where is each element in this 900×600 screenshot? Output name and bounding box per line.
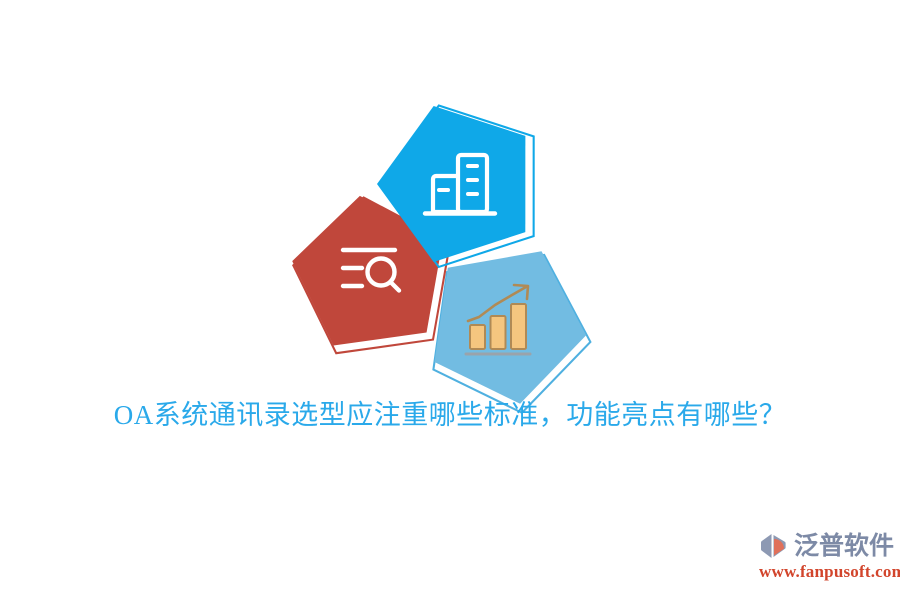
page-title: OA系统通讯录选型应注重哪些标准，功能亮点有哪些？ [0, 396, 900, 434]
brand-url: www.fanpusoft.com [759, 562, 900, 582]
brand-watermark: 泛普软件 www.fanpusoft.com [758, 531, 894, 587]
brand-name: 泛普软件 [794, 531, 894, 561]
fanpu-logo-icon [758, 531, 790, 561]
page-canvas: OA系统通讯录选型应注重哪些标准，功能亮点有哪些？ 泛普软件 www.fanpu… [0, 0, 900, 600]
pentagon-building [270, 85, 610, 390]
pentagon-cluster-graphic [270, 85, 610, 390]
brand-logo-row: 泛普软件 [758, 531, 894, 561]
